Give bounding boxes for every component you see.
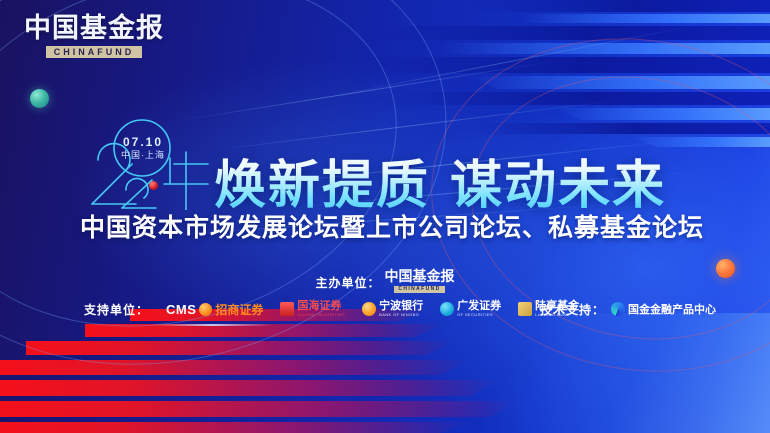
- sponsor-guohai-cn: 国海证券: [297, 301, 345, 312]
- tech-logo-guojin[interactable]: 国金金融产品中心: [611, 301, 716, 317]
- host-logo: 中国基金报 CHINAFUND: [385, 271, 455, 293]
- sponsor-gf-cn: 广发证券: [457, 301, 501, 312]
- host-logo-en: CHINAFUND: [394, 286, 444, 293]
- host-label: 主办单位：: [315, 274, 380, 291]
- brand-name-en: CHINAFUND: [46, 46, 143, 58]
- brand-logo: 中国基金报 CHINAFUND: [24, 14, 164, 60]
- gf-circle-icon: [440, 302, 454, 316]
- tech-support-group: 技术支持： 国金金融产品中心: [540, 301, 716, 318]
- page-title: 焕新提质 谋动未来: [214, 143, 666, 218]
- year-badge-meta: 07.10 中国·上海: [112, 136, 174, 160]
- event-place: 中国·上海: [112, 151, 174, 160]
- guojin-circle-icon: [611, 302, 625, 316]
- year-2024-graphic: [86, 118, 214, 210]
- sponsor-ningbo-cn: 宁波银行: [379, 301, 423, 312]
- host-logo-cn: 中国基金报: [385, 271, 455, 285]
- sponsor-group: 支持单位： CMS 招商证券 国海证券 GUOHAI SECURITIES 宁波…: [84, 301, 579, 318]
- sponsor-logo-cms[interactable]: CMS 招商证券: [166, 301, 263, 318]
- cms-circle-icon: [199, 303, 212, 316]
- decor-teal-sphere: [30, 89, 49, 108]
- guohai-mark-icon: [280, 302, 294, 316]
- ningbo-circle-icon: [362, 302, 376, 316]
- host-line: 主办单位： 中国基金报 CHINAFUND: [0, 271, 770, 293]
- year-badge-2024: 07.10 中国·上海: [86, 118, 214, 210]
- sponsor-gf-en: GF SECURITIES: [457, 313, 501, 317]
- brand-name-cn: 中国基金报: [24, 14, 164, 42]
- sponsor-logo-ningbo[interactable]: 宁波银行 BANK OF NINGBO: [362, 301, 423, 317]
- event-date: 07.10: [112, 136, 174, 148]
- sponsor-label: 支持单位：: [84, 301, 149, 318]
- sponsor-logo-guohai[interactable]: 国海证券 GUOHAI SECURITIES: [280, 301, 345, 317]
- tech-support-label: 技术支持：: [540, 301, 605, 318]
- sponsor-cms-cn: 招商证券: [215, 301, 263, 318]
- tech-guojin-cn: 国金金融产品中心: [628, 301, 716, 317]
- sponsor-guohai-en: GUOHAI SECURITIES: [297, 313, 345, 317]
- decor-sponsor-underline: [152, 324, 272, 326]
- sponsor-cms-abbr: CMS: [166, 302, 196, 317]
- page-subtitle: 中国资本市场发展论坛暨上市公司论坛、私募基金论坛: [80, 208, 692, 244]
- sponsor-ningbo-en: BANK OF NINGBO: [379, 313, 423, 317]
- event-poster: 中国基金报 CHINAFUND 07.10 中国·上海: [0, 0, 770, 433]
- decor-red-dot: [149, 181, 158, 190]
- luxiang-mark-icon: [518, 302, 532, 316]
- sponsor-logo-gf[interactable]: 广发证券 GF SECURITIES: [440, 301, 501, 317]
